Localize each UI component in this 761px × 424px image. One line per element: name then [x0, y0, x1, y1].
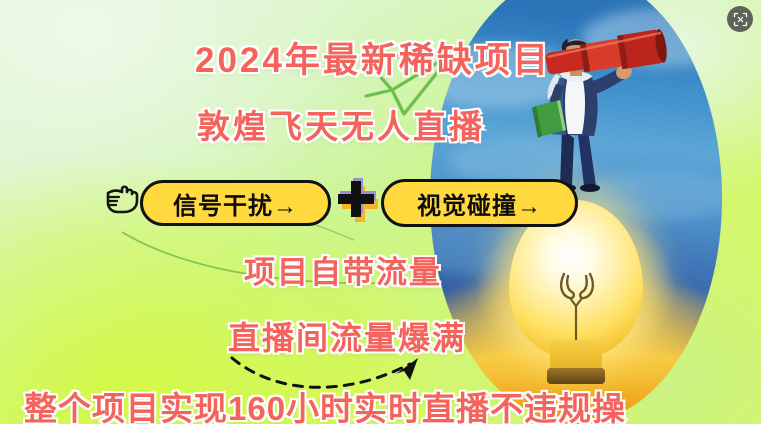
headline-line-2: 敦煌飞天无人直播 [197, 100, 485, 148]
headline-line-4: 直播间流量爆满 [228, 313, 466, 359]
badge-signal-interference[interactable]: 信号干扰→ [140, 180, 331, 226]
poster-canvas: 2024年最新稀缺项目 敦煌飞天无人直播 项目自带流量 直播间流量爆满 整个项目… [0, 0, 761, 424]
headline-line-1: 2024年最新稀缺项目 [195, 32, 551, 83]
headline-line-3: 项目自带流量 [244, 247, 442, 292]
scan-frame-icon[interactable] [727, 6, 753, 32]
pointing-hand-icon [106, 184, 140, 214]
badge-visual-impact[interactable]: 视觉碰撞→ [381, 179, 578, 227]
plus-sign-icon [336, 177, 376, 221]
headline-line-5: 整个项目实现160小时实时直播不违规操 [24, 382, 626, 424]
